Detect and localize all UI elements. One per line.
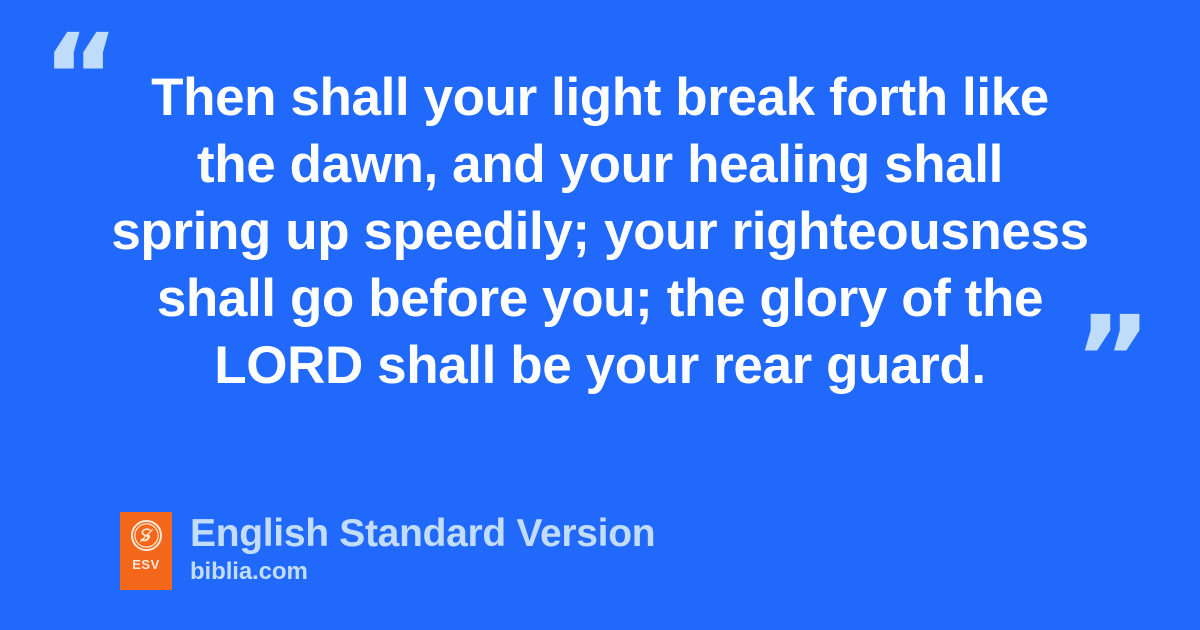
quote-line: Then shall your light break forth like [60, 64, 1140, 131]
quote-line: the dawn, and your healing shall [60, 131, 1140, 198]
esv-logo-label: ESV [132, 558, 160, 571]
quote-line: LORD shall be your rear guard. [60, 332, 1140, 399]
scripture-quote-card: “ ” Then shall your light break forth li… [0, 0, 1200, 630]
esv-logo-badge[interactable]: ESV [120, 512, 172, 590]
attribution-block[interactable]: ESV English Standard Version biblia.com [120, 512, 655, 590]
bible-version-name: English Standard Version [190, 512, 655, 556]
site-name-link[interactable]: biblia.com [190, 558, 655, 586]
quote-line: spring up speedily; your righteousness [60, 198, 1140, 265]
attribution-text-group: English Standard Version biblia.com [190, 512, 655, 586]
esv-seal-icon [131, 520, 162, 551]
quote-line: shall go before you; the glory of the [60, 265, 1140, 332]
quote-text-block: Then shall your light break forth like t… [60, 64, 1140, 399]
